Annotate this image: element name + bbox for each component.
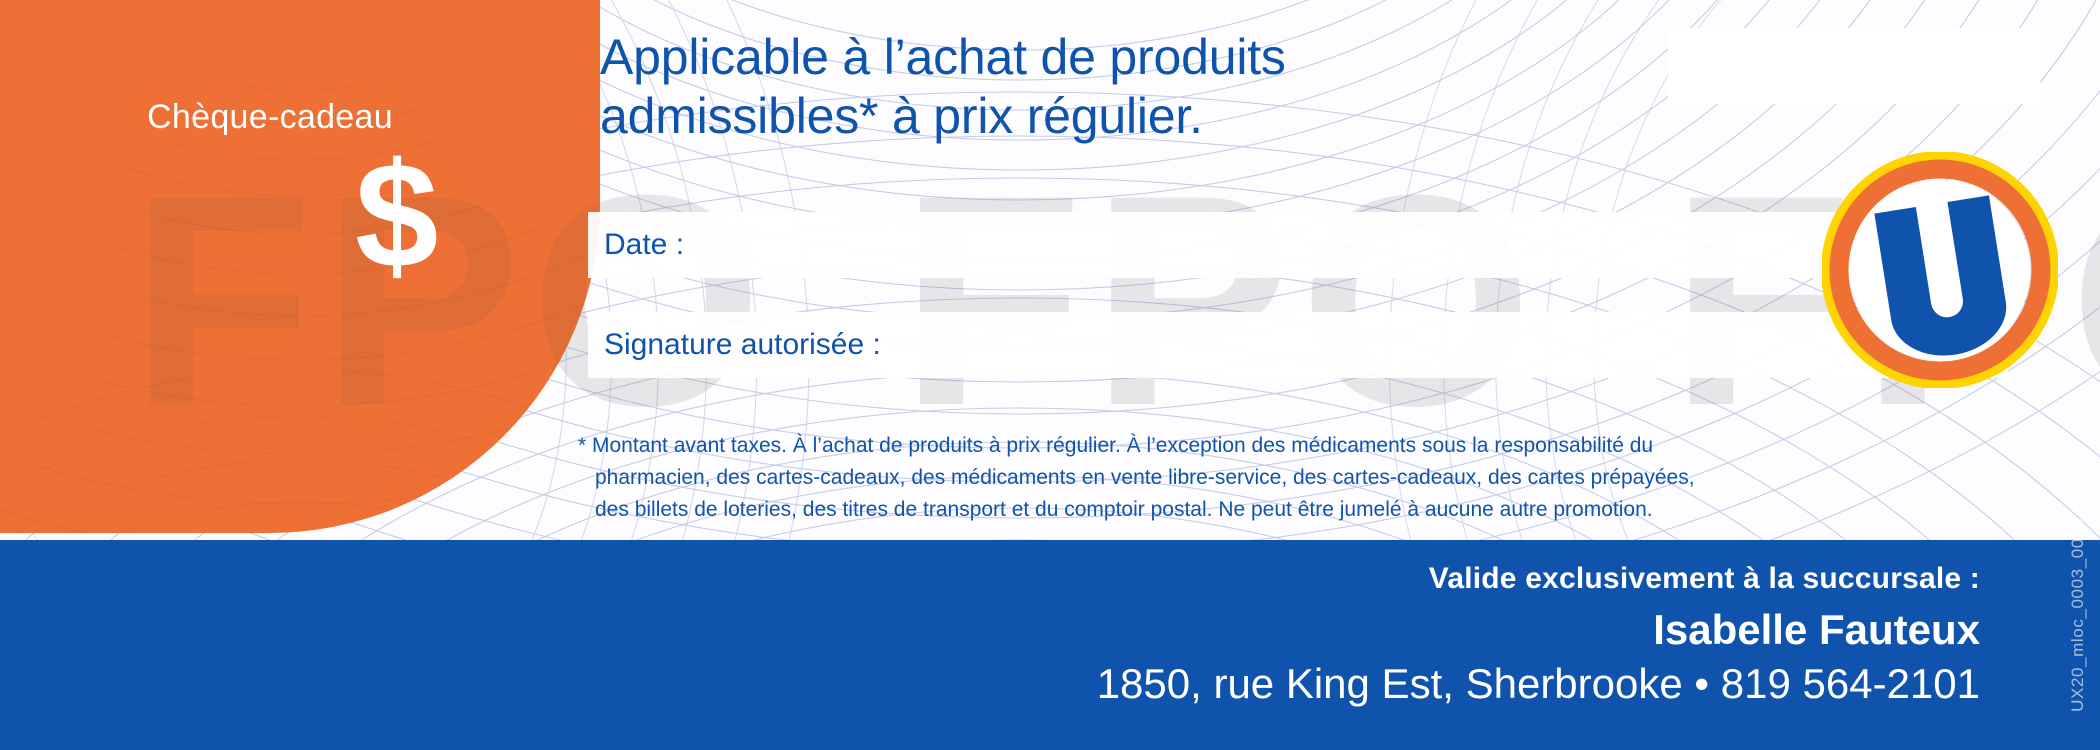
- date-field-band[interactable]: [588, 212, 2008, 278]
- cheque-cadeau-title: Chèque-cadeau: [0, 98, 540, 137]
- store-info: Valide exclusivement à la succursale : I…: [1097, 562, 1980, 708]
- fineprint-line-3: des billets de loteries, des titres de t…: [578, 494, 1998, 526]
- store-name: Isabelle Fauteux: [1097, 606, 1980, 654]
- date-field-label: Date :: [604, 228, 684, 262]
- job-code-label: UX20_mloc_0003_0013: [2068, 518, 2088, 712]
- footer-bar: Valide exclusivement à la succursale : I…: [0, 540, 2100, 750]
- page-title: Applicable à l’achat de produits admissi…: [600, 28, 1600, 145]
- headline-line-1: Applicable à l’achat de produits: [600, 29, 1286, 85]
- headline-line-2: admissibles* à prix régulier.: [600, 87, 1600, 146]
- gift-certificate: FPO FPO FPO: [0, 0, 2100, 750]
- validity-label: Valide exclusivement à la succursale :: [1097, 562, 1980, 596]
- orange-left-panel: FPO Chèque-cadeau $: [0, 0, 600, 533]
- fineprint-line-2: pharmacien, des cartes-cadeaux, des médi…: [578, 462, 1998, 494]
- legal-fineprint: * Montant avant taxes. À l’achat de prod…: [578, 430, 1998, 526]
- uniprix-logo: [1822, 152, 2058, 388]
- store-address: 1850, rue King Est, Sherbrooke • 819 564…: [1097, 660, 1980, 708]
- top-right-white-block: [1668, 28, 2040, 104]
- dollar-symbol: $: [355, 140, 438, 290]
- signature-field-label: Signature autorisée :: [604, 328, 881, 362]
- fineprint-line-1: * Montant avant taxes. À l’achat de prod…: [578, 430, 1998, 462]
